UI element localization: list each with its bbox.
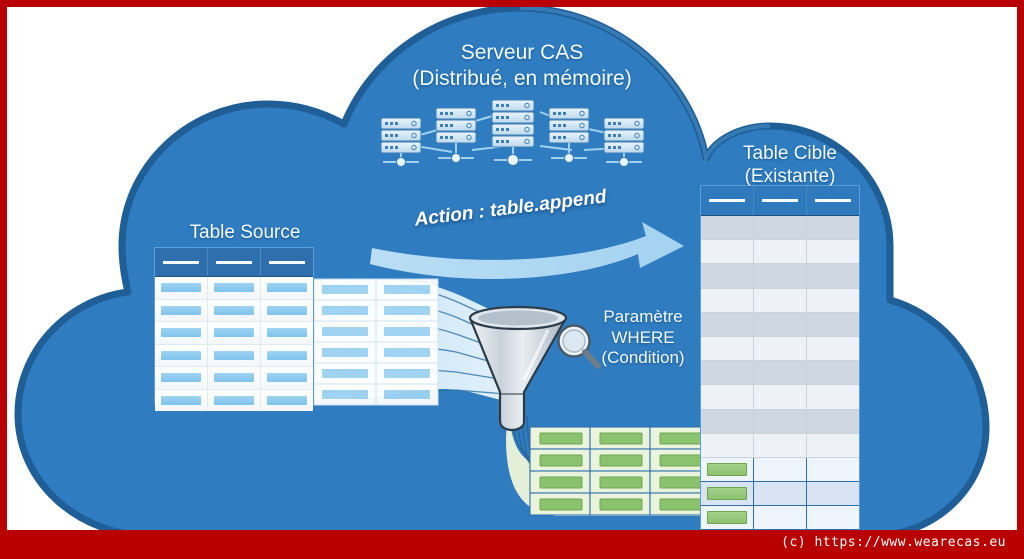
source-header-cell	[208, 248, 261, 276]
table-cell	[807, 482, 859, 506]
column-header-bar-icon	[163, 261, 198, 264]
watermark-text: (c) https://www.wearecas.eu	[781, 535, 1006, 550]
cell-bar-icon	[161, 283, 201, 292]
table-cell	[754, 458, 807, 482]
table-cell	[208, 300, 261, 322]
table-row	[155, 367, 313, 390]
cell-bar-icon	[161, 396, 201, 405]
where-parameter-label: Paramètre WHERE (Condition)	[578, 307, 708, 369]
appended-cell-chip-icon	[707, 463, 746, 476]
table-cell	[807, 264, 859, 288]
table-row	[701, 337, 859, 361]
table-row	[701, 434, 859, 458]
table-cell	[701, 361, 754, 385]
target-title-line2: (Existante)	[700, 165, 880, 188]
table-row	[701, 289, 859, 313]
table-cell	[754, 410, 807, 434]
table-cell	[701, 434, 754, 458]
table-cell	[261, 322, 313, 344]
table-cell	[701, 482, 754, 506]
table-cell	[155, 390, 208, 412]
cell-bar-icon	[214, 283, 254, 292]
table-cell	[261, 345, 313, 367]
table-cell	[754, 264, 807, 288]
appended-table-row	[701, 506, 859, 530]
table-cell	[208, 322, 261, 344]
cell-bar-icon	[214, 373, 254, 382]
table-row	[155, 390, 313, 412]
table-cell	[807, 555, 859, 559]
table-cell	[807, 361, 859, 385]
column-header-bar-icon	[216, 261, 251, 264]
table-cell	[155, 367, 208, 389]
cell-bar-icon	[267, 373, 307, 382]
table-cell	[155, 322, 208, 344]
table-cell	[701, 337, 754, 361]
cell-bar-icon	[214, 306, 254, 315]
source-header-cell	[261, 248, 313, 276]
table-cell	[754, 289, 807, 313]
table-cell	[754, 240, 807, 264]
cloud-title-line2: (Distribué, en mémoire)	[392, 66, 652, 92]
target-table-header-row	[701, 186, 859, 216]
cell-bar-icon	[267, 283, 307, 292]
table-cell	[807, 434, 859, 458]
column-header-bar-icon	[709, 199, 744, 202]
table-cell	[701, 410, 754, 434]
table-cell	[701, 264, 754, 288]
table-row	[155, 322, 313, 345]
appended-table-row	[701, 458, 859, 482]
cell-bar-icon	[214, 396, 254, 405]
flowing-source-rows	[314, 279, 438, 405]
cloud-title: Serveur CAS (Distribué, en mémoire)	[392, 40, 652, 91]
table-row	[701, 313, 859, 337]
target-header-cell	[754, 186, 807, 215]
where-label-line2: WHERE	[578, 328, 708, 349]
table-row	[701, 385, 859, 409]
table-cell	[754, 555, 807, 559]
table-row	[701, 555, 859, 559]
target-table-title: Table Cible (Existante)	[700, 142, 880, 188]
cell-bar-icon	[214, 328, 254, 337]
table-row	[701, 216, 859, 240]
table-row	[701, 264, 859, 288]
cell-bar-icon	[267, 351, 307, 360]
cell-bar-icon	[161, 373, 201, 382]
table-cell	[807, 289, 859, 313]
table-cell	[701, 458, 754, 482]
cell-bar-icon	[161, 306, 201, 315]
table-cell	[807, 458, 859, 482]
table-cell	[754, 482, 807, 506]
cell-bar-icon	[267, 306, 307, 315]
cell-bar-icon	[161, 351, 201, 360]
table-cell	[807, 410, 859, 434]
target-header-cell	[701, 186, 754, 215]
appended-table-row	[701, 482, 859, 506]
table-cell	[701, 555, 754, 559]
appended-cell-chip-icon	[707, 511, 746, 524]
table-cell	[807, 216, 859, 240]
table-cell	[807, 313, 859, 337]
table-cell	[807, 385, 859, 409]
table-cell	[155, 277, 208, 299]
table-cell	[261, 390, 313, 412]
diagram-canvas: Serveur CAS (Distribué, en mémoire) Tabl…	[0, 0, 1024, 559]
table-cell	[701, 240, 754, 264]
table-row	[701, 361, 859, 385]
table-cell	[754, 506, 807, 530]
table-row	[155, 300, 313, 323]
source-table-title: Table Source	[150, 221, 340, 244]
column-header-bar-icon	[815, 199, 850, 202]
source-header-cell	[155, 248, 208, 276]
table-cell	[701, 216, 754, 240]
appended-cell-chip-icon	[707, 487, 746, 500]
cell-bar-icon	[267, 396, 307, 405]
table-cell	[754, 216, 807, 240]
table-row	[701, 240, 859, 264]
table-row	[701, 410, 859, 434]
table-cell	[754, 385, 807, 409]
table-cell	[754, 361, 807, 385]
flowing-green-rows	[530, 427, 710, 515]
cloud-title-line1: Serveur CAS	[392, 40, 652, 66]
table-cell	[754, 337, 807, 361]
table-cell	[701, 385, 754, 409]
column-header-bar-icon	[269, 261, 304, 264]
where-label-line3: (Condition)	[578, 348, 708, 369]
table-cell	[208, 390, 261, 412]
cell-bar-icon	[161, 328, 201, 337]
column-header-bar-icon	[762, 199, 797, 202]
source-table-header-row	[155, 248, 313, 277]
target-table	[700, 185, 860, 530]
table-cell	[754, 313, 807, 337]
table-cell	[208, 277, 261, 299]
table-row	[155, 345, 313, 368]
table-cell	[807, 337, 859, 361]
cell-bar-icon	[214, 351, 254, 360]
table-cell	[155, 345, 208, 367]
where-label-line1: Paramètre	[578, 307, 708, 328]
target-header-cell	[807, 186, 859, 215]
table-cell	[701, 313, 754, 337]
target-title-line1: Table Cible	[700, 142, 880, 165]
table-cell	[701, 506, 754, 530]
table-cell	[261, 300, 313, 322]
table-cell	[261, 367, 313, 389]
table-cell	[261, 277, 313, 299]
source-table	[154, 247, 314, 405]
table-cell	[208, 345, 261, 367]
table-cell	[754, 434, 807, 458]
table-row	[155, 277, 313, 300]
table-cell	[155, 300, 208, 322]
table-cell	[208, 367, 261, 389]
cell-bar-icon	[267, 328, 307, 337]
table-cell	[807, 506, 859, 530]
table-cell	[701, 289, 754, 313]
table-cell	[807, 240, 859, 264]
